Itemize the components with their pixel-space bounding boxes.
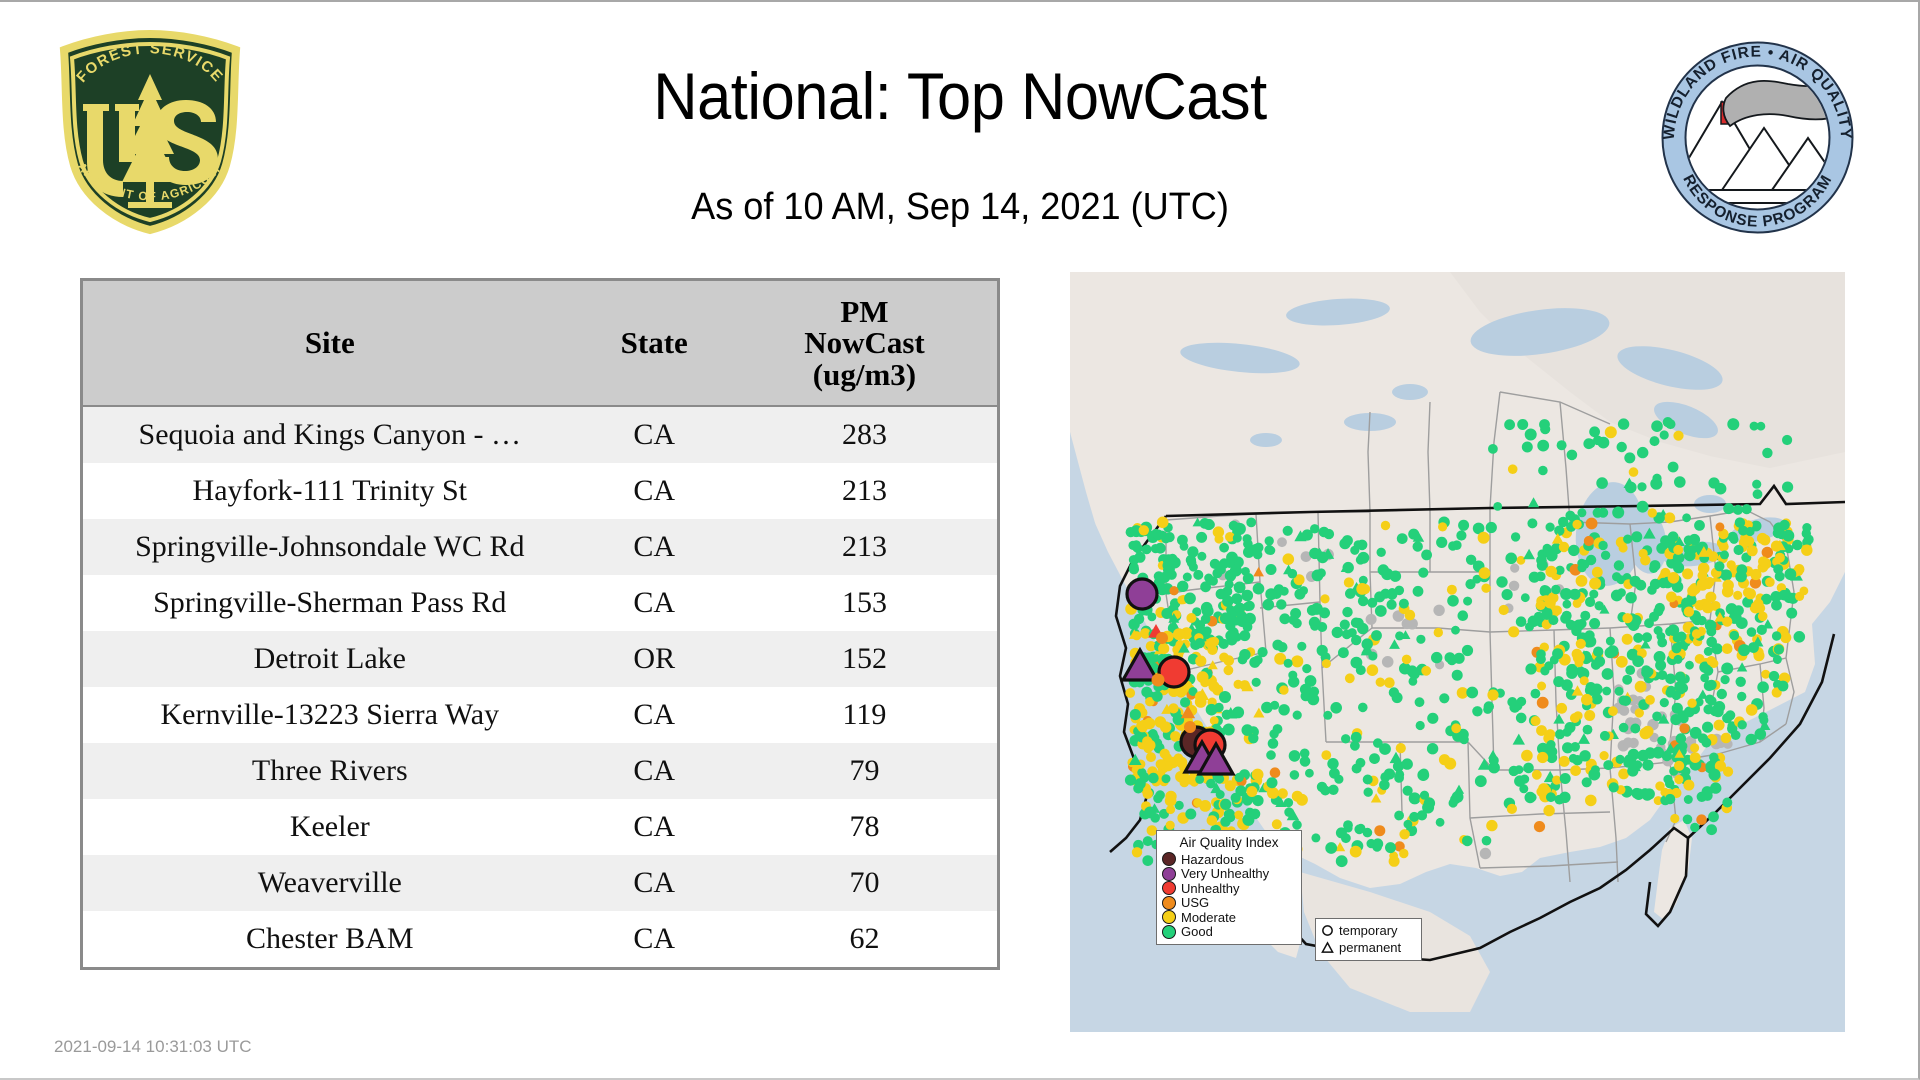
site-cell: Kernville-13223 Sierra Way <box>83 687 577 743</box>
top-nowcast-table: Site State PM NowCast (ug/m3) Sequoia an… <box>80 278 1000 970</box>
state-cell: CA <box>577 799 732 855</box>
value-cell: 119 <box>732 687 997 743</box>
legend-swatch-icon <box>1162 896 1176 910</box>
state-cell: CA <box>577 575 732 631</box>
legend-label: Moderate <box>1181 911 1236 924</box>
usda-forest-service-shield-logo: FOREST SERVICE DEPARTMENT OF AGRICULTURE <box>50 30 250 235</box>
state-cell: CA <box>577 743 732 799</box>
state-cell: CA <box>577 687 732 743</box>
aqi-legend: Air Quality Index HazardousVery Unhealth… <box>1156 830 1302 945</box>
legend-label: Unhealthy <box>1181 882 1240 895</box>
column-header-pm-line3: (ug/m3) <box>732 359 997 391</box>
column-header-state: State <box>577 281 732 406</box>
state-cell: CA <box>577 406 732 463</box>
page-title: National: Top NowCast <box>383 58 1536 134</box>
legend-row-very-unhealthy: Very Unhealthy <box>1162 867 1296 882</box>
column-header-site: Site <box>83 281 577 406</box>
legend-label: Good <box>1181 925 1213 938</box>
value-cell: 79 <box>732 743 997 799</box>
table-row: KeelerCA78 <box>83 799 997 855</box>
table-row: Detroit LakeOR152 <box>83 631 997 687</box>
legend-row-hazardous: Hazardous <box>1162 852 1296 867</box>
legend-label: Hazardous <box>1181 853 1244 866</box>
legend-swatch-icon <box>1162 925 1176 939</box>
value-cell: 213 <box>732 519 997 575</box>
legend-swatch-icon <box>1162 852 1176 866</box>
wildland-fire-air-quality-response-program-logo: WILDLAND FIRE • AIR QUALITY RESPONSE PRO… <box>1660 40 1855 235</box>
table-row: Sequoia and Kings Canyon - …CA283 <box>83 406 997 463</box>
table-row: Hayfork-111 Trinity StCA213 <box>83 463 997 519</box>
column-header-pm-line1: PM <box>732 296 997 328</box>
legend-row-unhealthy: Unhealthy <box>1162 881 1296 896</box>
legend-swatch-icon <box>1162 881 1176 895</box>
generated-timestamp: 2021-09-14 10:31:03 UTC <box>54 1037 252 1057</box>
legend-label-temporary: temporary <box>1339 924 1398 937</box>
table-row: Three RiversCA79 <box>83 743 997 799</box>
table-row: Springville-Johnsondale WC RdCA213 <box>83 519 997 575</box>
legend-label: USG <box>1181 896 1209 909</box>
column-header-pm-nowcast: PM NowCast (ug/m3) <box>732 281 997 406</box>
value-cell: 70 <box>732 855 997 911</box>
site-cell: Chester BAM <box>83 911 577 967</box>
legend-swatch-icon <box>1162 867 1176 881</box>
temporary-site-circle-icon <box>1321 924 1334 937</box>
state-cell: CA <box>577 519 732 575</box>
site-cell: Springville-Johnsondale WC Rd <box>83 519 577 575</box>
state-cell: CA <box>577 855 732 911</box>
value-cell: 78 <box>732 799 997 855</box>
state-cell: OR <box>577 631 732 687</box>
legend-swatch-icon <box>1162 910 1176 924</box>
legend-row-usg: USG <box>1162 896 1296 911</box>
table-row: WeavervilleCA70 <box>83 855 997 911</box>
site-cell: Three Rivers <box>83 743 577 799</box>
site-cell: Keeler <box>83 799 577 855</box>
national-aqi-map[interactable]: Air Quality Index HazardousVery Unhealth… <box>1070 272 1845 1032</box>
table-row: Kernville-13223 Sierra WayCA119 <box>83 687 997 743</box>
page-subtitle: As of 10 AM, Sep 14, 2021 (UTC) <box>371 186 1549 229</box>
column-header-pm-line2: NowCast <box>732 327 997 359</box>
site-cell: Hayfork-111 Trinity St <box>83 463 577 519</box>
table-row: Chester BAMCA62 <box>83 911 997 967</box>
legend-row-good: Good <box>1162 925 1296 940</box>
site-cell: Springville-Sherman Pass Rd <box>83 575 577 631</box>
site-cell: Sequoia and Kings Canyon - … <box>83 406 577 463</box>
value-cell: 213 <box>732 463 997 519</box>
nowcast-report-page: { "header": { "title": "National: Top No… <box>0 0 1920 1080</box>
value-cell: 152 <box>732 631 997 687</box>
state-cell: CA <box>577 911 732 967</box>
legend-row-temporary: temporary <box>1321 922 1417 939</box>
table-header-row: Site State PM NowCast (ug/m3) <box>83 281 997 406</box>
aqi-legend-title: Air Quality Index <box>1162 835 1296 850</box>
table-row: Springville-Sherman Pass RdCA153 <box>83 575 997 631</box>
permanent-site-triangle-icon <box>1321 941 1334 954</box>
site-cell: Detroit Lake <box>83 631 577 687</box>
state-cell: CA <box>577 463 732 519</box>
value-cell: 62 <box>732 911 997 967</box>
legend-label-permanent: permanent <box>1339 941 1401 954</box>
value-cell: 153 <box>732 575 997 631</box>
site-type-legend: temporary permanent <box>1315 918 1422 961</box>
legend-row-permanent: permanent <box>1321 939 1417 956</box>
legend-row-moderate: Moderate <box>1162 910 1296 925</box>
value-cell: 283 <box>732 406 997 463</box>
legend-label: Very Unhealthy <box>1181 867 1269 880</box>
site-cell: Weaverville <box>83 855 577 911</box>
